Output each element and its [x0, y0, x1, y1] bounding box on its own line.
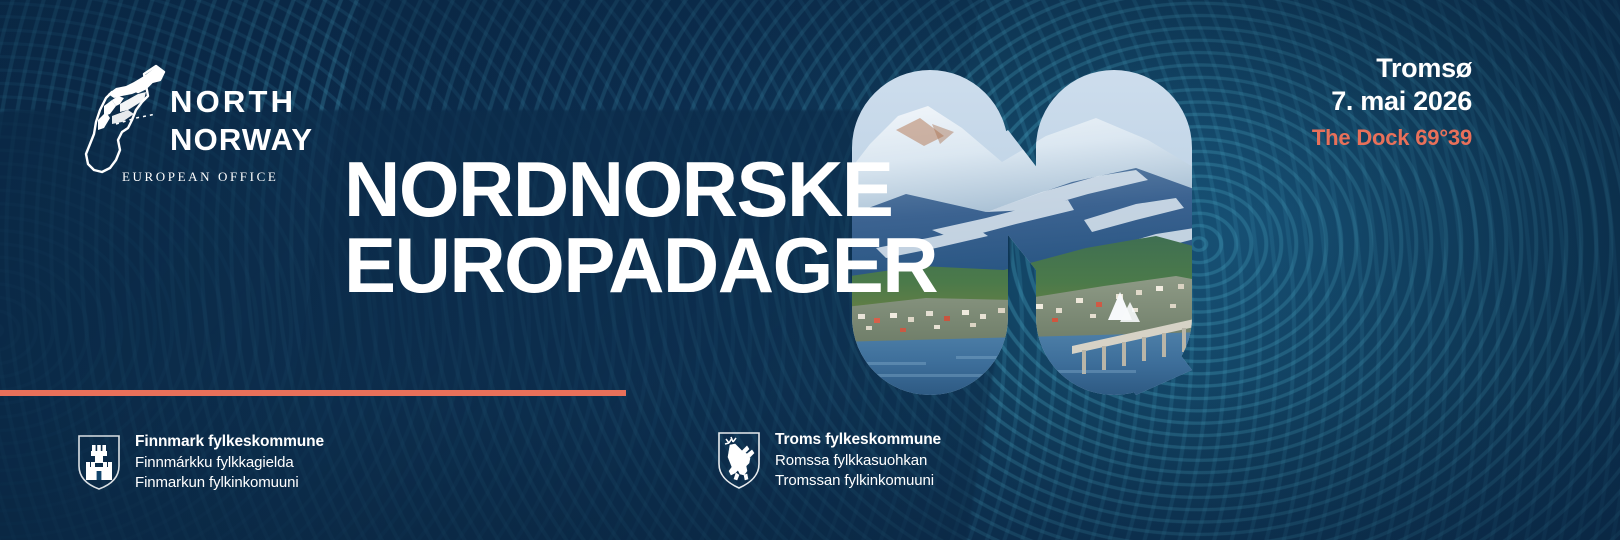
- troms-reindeer-shield-icon: [716, 430, 762, 490]
- event-banner: NORTH NORWAY EUROPEAN OFFICE NORDNORSKE …: [0, 0, 1620, 540]
- finnmark-names: Finnmark fylkeskommune Finnmárkku fylkka…: [135, 432, 324, 492]
- partner-name-kven: Tromssan fylkinkomuuni: [775, 471, 941, 491]
- event-details: Tromsø 7. mai 2026 The Dock 69°39: [1312, 52, 1472, 154]
- accent-divider: [0, 390, 626, 396]
- partner-logo-finnmark: Finnmark fylkeskommune Finnmárkku fylkka…: [76, 432, 324, 492]
- event-city: Tromsø: [1312, 52, 1472, 85]
- partner-name-sami: Finnmárkku fylkkagielda: [135, 453, 324, 473]
- partner-name-primary: Troms fylkeskommune: [775, 430, 941, 451]
- finnmark-castle-shield-icon: [76, 433, 122, 491]
- partner-logo-troms: Troms fylkeskommune Romssa fylkkasuohkan…: [716, 430, 941, 490]
- headline-line-2: EUROPADAGER: [344, 228, 1044, 304]
- headline-line-1: NORDNORSKE: [344, 152, 1044, 228]
- partner-name-sami: Romssa fylkkasuohkan: [775, 451, 941, 471]
- logo-line1: NORTH: [170, 84, 296, 119]
- logo-line2: NORWAY: [170, 122, 312, 157]
- page-title: NORDNORSKE EUROPADAGER: [344, 152, 1044, 303]
- event-date: 7. mai 2026: [1312, 85, 1472, 118]
- north-norway-logo: NORTH NORWAY EUROPEAN OFFICE: [72, 48, 312, 193]
- troms-names: Troms fylkeskommune Romssa fylkkasuohkan…: [775, 430, 941, 490]
- event-venue: The Dock 69°39: [1312, 121, 1472, 154]
- partner-name-primary: Finnmark fylkeskommune: [135, 432, 324, 453]
- logo-tagline: EUROPEAN OFFICE: [122, 169, 278, 184]
- norway-map-outline-icon: [86, 66, 164, 172]
- partner-name-kven: Finmarkun fylkinkomuuni: [135, 473, 324, 493]
